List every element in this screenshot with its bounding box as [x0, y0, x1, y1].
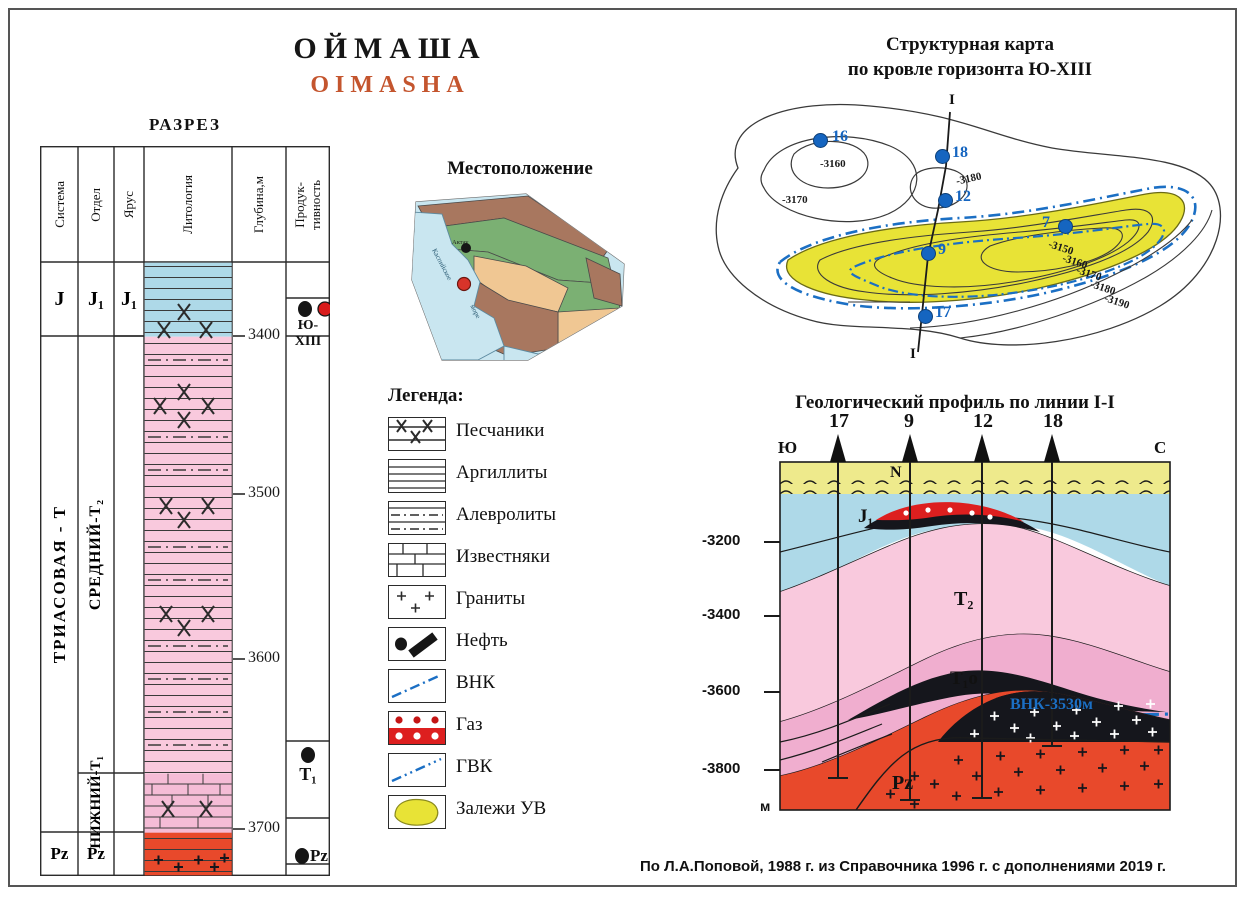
legend-label: Газ — [456, 714, 482, 736]
profile-well-label-18: 18 — [1043, 410, 1063, 433]
strat-department-lower-triassic: НИЖНИЙ-Т₁ — [78, 774, 114, 831]
productivity-label-t1: Т₁ — [288, 764, 328, 785]
legend-item-deposits: Залежи УВ — [388, 792, 638, 834]
strat-header-depth: Глубина,м — [232, 147, 286, 262]
depth-tick-3500: 3500 — [248, 484, 280, 502]
vnk-icon — [388, 669, 446, 703]
structural-map-title-line1: Структурная карта — [710, 32, 1230, 57]
gvk-icon — [388, 753, 446, 787]
strat-header-lithology: Литология — [144, 147, 232, 262]
legend-label: Нефть — [456, 630, 508, 652]
vnk-annotation: ВНК-3530м — [1010, 696, 1093, 714]
contour-label-3170-west: -3170 — [782, 194, 808, 206]
legend-label: Алевролиты — [456, 504, 556, 526]
map-well-dot-7[interactable] — [1058, 219, 1073, 234]
strat-system-jurassic: J — [41, 263, 78, 335]
profile-unit-label: м — [760, 798, 770, 814]
map-well-dot-18[interactable] — [935, 149, 950, 164]
geological-profile: 17 9 12 18 Ю С -3200 -3400 -3600 -3800 м… — [670, 420, 1240, 850]
granite-icon — [388, 585, 446, 619]
stratigraphic-table: Система Отдел Ярус Литология Глубина,м П… — [40, 146, 330, 876]
profile-title: Геологический профиль по линии I-I — [670, 392, 1240, 414]
map-well-label-9: 9 — [938, 241, 946, 259]
profile-depth-3400: -3400 — [702, 606, 740, 623]
legend-item-vnk: ВНК — [388, 666, 638, 708]
strat-department-jurassic: J₁ — [78, 263, 114, 335]
legend-item-mudstone: Аргиллиты — [388, 456, 638, 498]
legend-item-gvk: ГВК — [388, 750, 638, 792]
contour-label-3160-west: -3160 — [820, 158, 846, 170]
legend-label: Известняки — [456, 546, 550, 568]
legend-item-limestone: Известняки — [388, 540, 638, 582]
depth-tick-3600: 3600 — [248, 649, 280, 667]
oil-icon — [388, 627, 446, 661]
section-column-title: РАЗРЕЗ — [40, 115, 330, 135]
strat-system-triassic: ТРИАСОВАЯ - Т — [41, 337, 78, 831]
legend-item-granite: Граниты — [388, 582, 638, 624]
direction-label-north: С — [1154, 438, 1166, 458]
strat-header-system: Система — [41, 147, 78, 262]
strat-stage-jurassic: J₁ — [114, 263, 144, 335]
source-note: По Л.А.Поповой, 1988 г. из Справочника 1… — [558, 858, 1247, 875]
poster-frame: ОЙМАША OIMASHA РАЗРЕЗ Местоположение Лег… — [8, 8, 1237, 887]
strat-header-department: Отдел — [78, 147, 114, 262]
sandstone-icon — [388, 417, 446, 451]
siltstone-icon — [388, 501, 446, 535]
strat-department-paleozoic: Pz — [78, 833, 114, 875]
profile-well-label-17: 17 — [829, 410, 849, 433]
map-well-label-7: 7 — [1042, 214, 1050, 232]
depth-tick-3400: 3400 — [248, 326, 280, 344]
legend-item-oil: Нефть — [388, 624, 638, 666]
legend-item-siltstone: Алевролиты — [388, 498, 638, 540]
map-well-dot-16[interactable] — [813, 133, 828, 148]
page-title-en: OIMASHA — [10, 72, 770, 99]
legend-label: ВНК — [456, 672, 495, 694]
map-well-dot-9[interactable] — [921, 246, 936, 261]
section-line-label-bottom: I — [910, 346, 916, 363]
profile-depth-3200: -3200 — [702, 532, 740, 549]
profile-depth-3600: -3600 — [702, 682, 740, 699]
section-line-label-top: I — [949, 92, 955, 109]
legend-title: Легенда: — [388, 385, 588, 407]
profile-well-label-9: 9 — [904, 410, 914, 433]
strat-header-productivity: Продук- тивность — [286, 147, 329, 262]
direction-label-south: Ю — [778, 438, 797, 458]
strat-header-stage: Ярус — [114, 147, 144, 262]
depth-tick-3700: 3700 — [248, 819, 280, 837]
mudstone-icon — [388, 459, 446, 493]
location-city-label: Актау — [452, 239, 469, 246]
legend-label: Граниты — [456, 588, 525, 610]
profile-unit-pz: Pz — [892, 772, 913, 795]
map-well-label-17: 17 — [935, 304, 951, 322]
limestone-icon — [388, 543, 446, 577]
profile-unit-neogene: N — [890, 464, 902, 482]
legend-label: Залежи УВ — [456, 798, 546, 820]
legend-item-gas: Газ — [388, 708, 638, 750]
deposits-icon — [388, 795, 446, 829]
legend-label: ГВК — [456, 756, 492, 778]
map-well-label-18: 18 — [952, 144, 968, 162]
gas-icon — [388, 711, 446, 745]
location-map-title: Местоположение — [390, 158, 650, 180]
map-well-label-12: 12 — [955, 188, 971, 206]
map-well-label-16: 16 — [832, 128, 848, 146]
strat-system-paleozoic: Pz — [41, 833, 78, 875]
legend-label: Песчаники — [456, 420, 544, 442]
location-map: Каспийское море Актау — [408, 188, 628, 363]
legend: Песчаники Аргиллиты — [388, 414, 638, 834]
page-title-ru: ОЙМАША — [10, 32, 770, 66]
profile-well-label-12: 12 — [973, 410, 993, 433]
structural-map: I I 16 18 12 7 9 17 -3160 -3170 -3180 -3… — [660, 70, 1240, 370]
profile-unit-t2: T₂ — [954, 588, 973, 611]
profile-unit-t1o: T₁o — [950, 668, 978, 690]
productivity-label-yu13: Ю-XIII — [288, 318, 328, 350]
strat-department-middle-triassic: СРЕДНИЙ-Т₂ — [78, 337, 114, 772]
map-well-dot-12[interactable] — [938, 193, 953, 208]
productivity-label-pz: Pz — [310, 846, 340, 866]
profile-depth-3800: -3800 — [702, 760, 740, 777]
map-well-dot-17[interactable] — [918, 309, 933, 324]
legend-item-sandstone: Песчаники — [388, 414, 638, 456]
profile-unit-jurassic: J₁ — [858, 506, 873, 528]
legend-label: Аргиллиты — [456, 462, 547, 484]
